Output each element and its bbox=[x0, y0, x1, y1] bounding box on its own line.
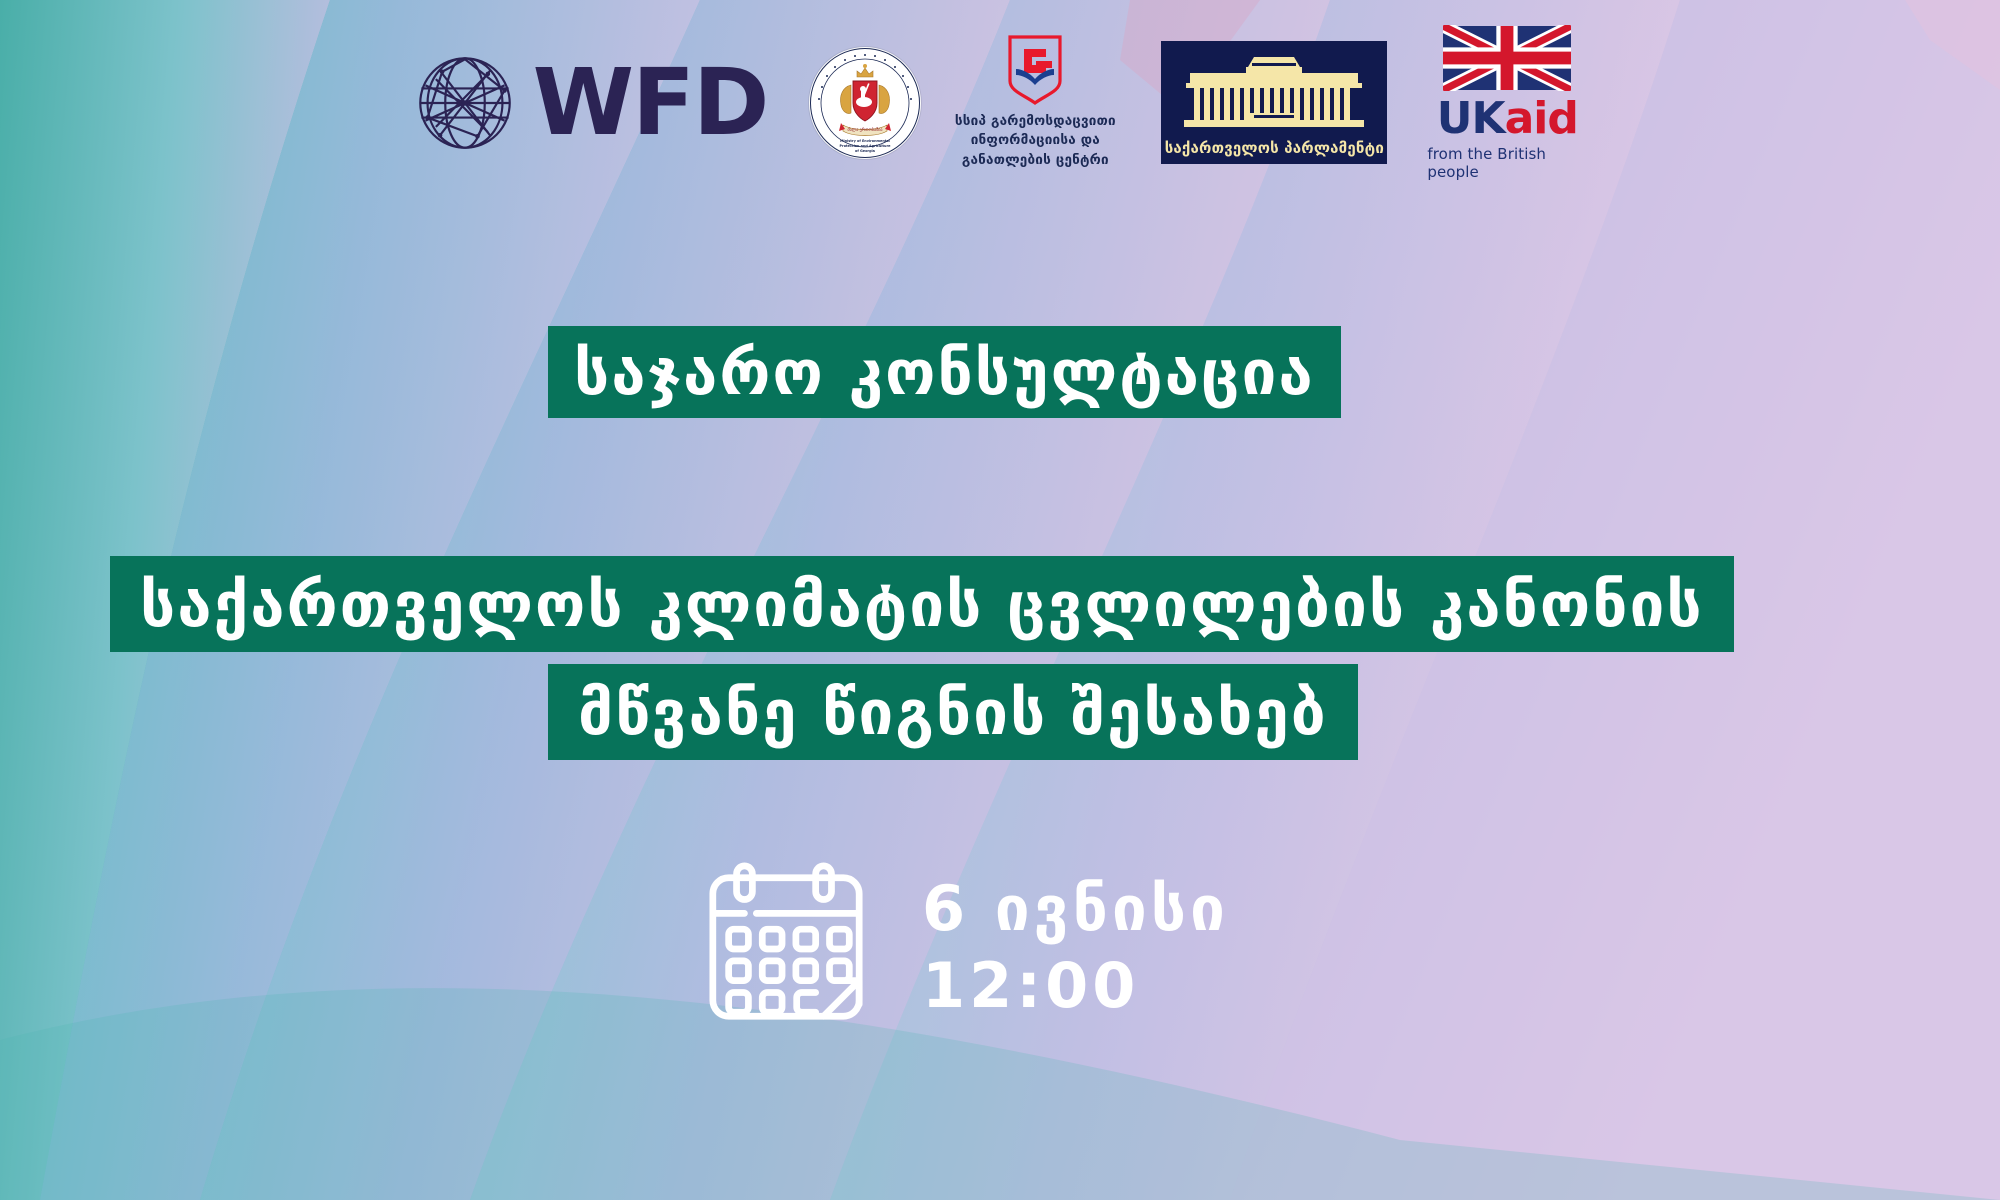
ukaid-tagline: from the British people bbox=[1427, 145, 1587, 181]
svg-text:Ministry of Environmental: Ministry of Environmental bbox=[841, 139, 891, 143]
eiec-caption: სსიპ გარემოსდაცვითი ინფორმაციისა და განა… bbox=[955, 112, 1116, 169]
event-text: 6 ივნისი 12:00 bbox=[922, 872, 1229, 1022]
ministry-seal-logo: ძალა ერთობაშია Ministry of Environmental… bbox=[809, 47, 921, 159]
ukaid-logo: UKaid from the British people bbox=[1427, 25, 1587, 181]
event-date: 6 ივნისი bbox=[922, 872, 1229, 945]
eiec-caption-line1: სსიპ გარემოსდაცვითი bbox=[955, 112, 1116, 131]
svg-text:Protection and Agriculture: Protection and Agriculture bbox=[840, 144, 892, 148]
eiec-caption-line2: ინფორმაციისა და bbox=[955, 131, 1116, 150]
ukaid-word-uk: UK bbox=[1437, 93, 1505, 144]
svg-text:of Georgia: of Georgia bbox=[855, 149, 876, 153]
open-book-shield-icon bbox=[1006, 35, 1064, 105]
event-time: 12:00 bbox=[922, 949, 1229, 1022]
wfd-wordmark: WFD bbox=[533, 57, 768, 149]
wfd-logo: WFD bbox=[413, 51, 768, 155]
ukaid-wordmark: UKaid bbox=[1437, 97, 1578, 141]
partner-logo-strip: WFD bbox=[0, 30, 2000, 175]
eiec-caption-line3: განათლების ცენტრი bbox=[955, 151, 1116, 170]
parliament-logo: საქართველოს პარლამენტი bbox=[1161, 41, 1387, 164]
svg-text:ძალა ერთობაშია: ძალა ერთობაშია bbox=[848, 127, 883, 132]
event-datetime-block: 6 ივნისი 12:00 bbox=[700, 858, 1229, 1036]
calendar-icon bbox=[700, 858, 872, 1036]
globe-network-icon bbox=[413, 51, 517, 155]
parliament-building-icon bbox=[1176, 53, 1372, 133]
georgia-coat-of-arms-icon: ძალა ერთობაშია Ministry of Environmental… bbox=[809, 47, 921, 159]
ukaid-word-aid: aid bbox=[1505, 93, 1578, 144]
union-jack-flag-icon bbox=[1443, 25, 1571, 91]
parliament-label: საქართველოს პარლამენტი bbox=[1165, 139, 1384, 157]
headline-banner-law-line: საქართველოს კლიმატის ცვლილების კანონის bbox=[110, 556, 1734, 652]
eiec-logo: სსიპ გარემოსდაცვითი ინფორმაციისა და განა… bbox=[935, 35, 1135, 169]
headline-banner-greenpaper-line: მწვანე წიგნის შესახებ bbox=[548, 664, 1358, 760]
headline-banner-public-consultation: საჯარო კონსულტაცია bbox=[548, 326, 1341, 418]
